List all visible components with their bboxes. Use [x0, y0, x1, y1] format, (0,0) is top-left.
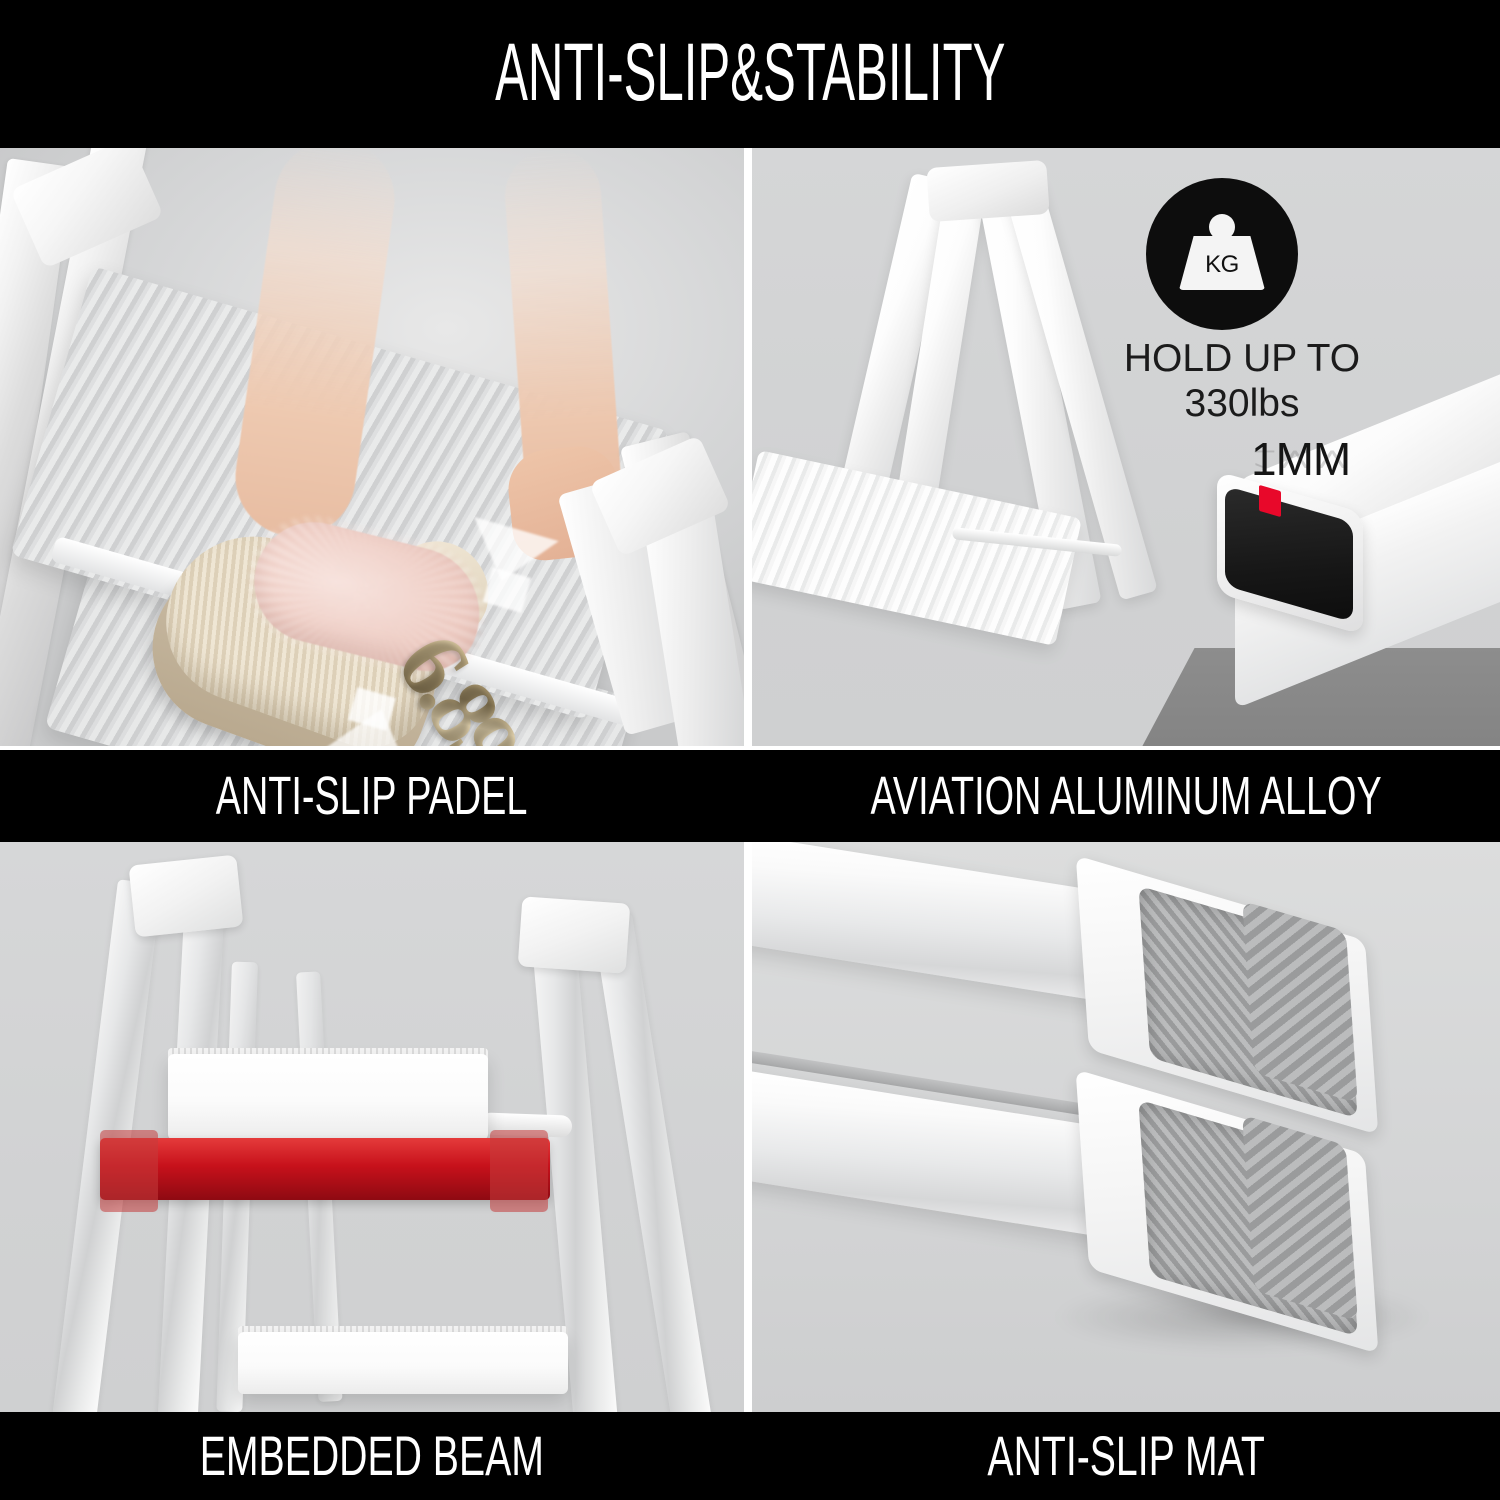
caption-band-aviation-aluminum-alloy: AVIATION ALUMINUM ALLOY [752, 750, 1500, 842]
weight-capacity-line1: HOLD UP TO [1112, 336, 1372, 381]
infographic-page: ANTI-SLIP&STABILITY 6.89 [0, 0, 1500, 1500]
page-title: ANTI-SLIP&STABILITY [495, 32, 1005, 114]
embedded-beam-end-right [490, 1130, 548, 1212]
panel-embedded-beam [0, 842, 744, 1412]
ladder-end-cap [518, 896, 631, 973]
caption-aviation-aluminum-alloy: AVIATION ALUMINUM ALLOY [870, 769, 1381, 823]
weight-unit-label: KG [1205, 251, 1239, 279]
panel-aviation-aluminum-alloy: KG HOLD UP TO 330lbs 1MM 1MM [752, 148, 1500, 750]
caption-anti-slip-padel: ANTI-SLIP PADEL [216, 769, 528, 823]
header-band: ANTI-SLIP&STABILITY [0, 0, 1500, 146]
embedded-beam-end-left [100, 1130, 158, 1212]
anti-slip-pad-upper-chevron [1242, 901, 1357, 1103]
ladder-step-lower [238, 1332, 568, 1394]
caption-embedded-beam: EMBEDDED BEAM [200, 1429, 544, 1483]
caption-band-embedded-beam: EMBEDDED BEAM [0, 1412, 744, 1500]
weight-kg-icon: KG [1179, 214, 1265, 294]
anti-slip-pad-lower-chevron [1242, 1115, 1358, 1321]
caption-band-anti-slip-mat: ANTI-SLIP MAT [752, 1412, 1500, 1500]
tube-thickness-label: 1MM [1251, 432, 1350, 486]
panel-divider-vertical [744, 148, 752, 750]
aluminum-tube: 1MM 1MM [1207, 410, 1500, 710]
caption-anti-slip-mat: ANTI-SLIP MAT [987, 1429, 1264, 1483]
panel-anti-slip-padel: 6.89 [0, 148, 744, 750]
panel-anti-slip-mat [752, 842, 1500, 1412]
ladder-end-cap [129, 855, 244, 938]
embedded-beam-highlight [100, 1138, 550, 1200]
ladder-step-upper [168, 1054, 488, 1140]
weight-badge: KG [1146, 178, 1298, 330]
ladder-top-cap [926, 160, 1049, 222]
caption-band-notch [744, 1412, 752, 1500]
weight-body: KG [1179, 236, 1265, 290]
caption-band-notch [744, 750, 752, 842]
panel-divider-vertical [744, 842, 752, 1412]
caption-band-anti-slip-padel: ANTI-SLIP PADEL [0, 750, 744, 842]
